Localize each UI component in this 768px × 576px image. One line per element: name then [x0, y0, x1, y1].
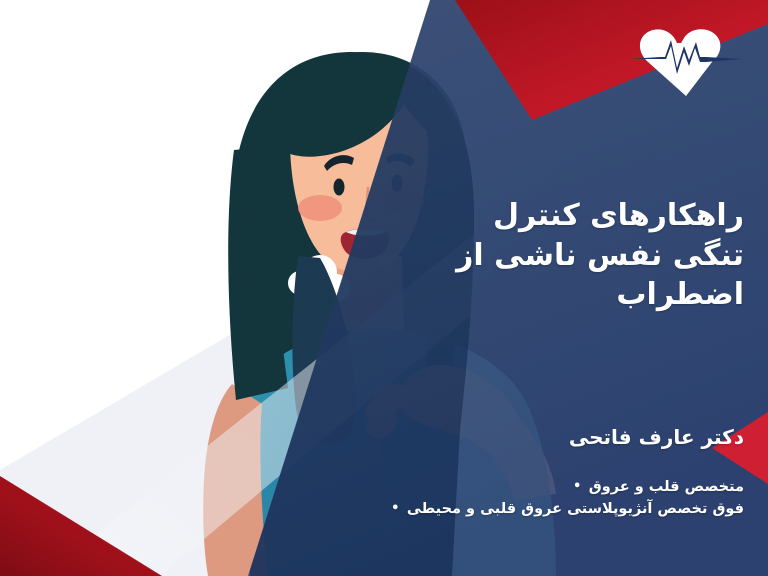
- eye-left: [334, 179, 345, 196]
- blush-left: [298, 195, 342, 221]
- heart-pulse-icon: [630, 26, 742, 98]
- banner-canvas: راهکارهای کنترل تنگی نفس ناشی از اضطراب …: [0, 0, 768, 576]
